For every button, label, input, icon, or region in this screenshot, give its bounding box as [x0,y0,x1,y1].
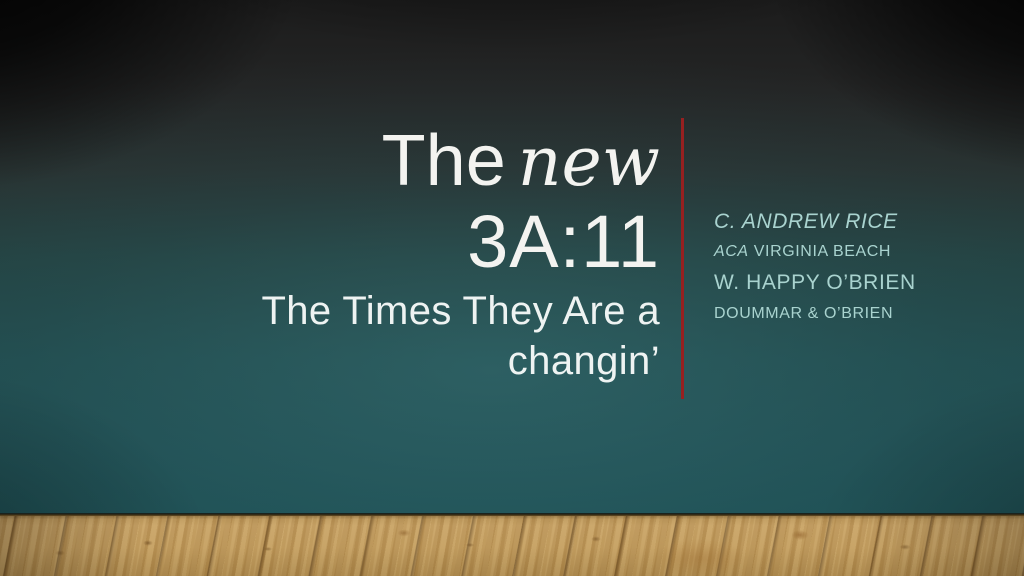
title-word-the: The [382,121,506,201]
red-vertical-divider [681,118,684,399]
title-word-new: new [506,123,660,202]
slide-subtitle: The Times They Are a changin’ [150,286,660,386]
title-line-2: 3A:11 [150,202,660,282]
floor-shading-overlay [0,513,1024,576]
wooden-floor [0,513,1024,576]
presenter-affiliation-1: ACA VIRGINIA BEACH [714,237,1004,267]
title-block: Thenew 3A:11 The Times They Are a changi… [150,122,660,386]
presenter-block: C. ANDREW RICE ACA VIRGINIA BEACH W. HAP… [714,206,1004,328]
presenter-name-2: W. HAPPY O’BRIEN [714,267,1004,299]
presenter-name-1: C. ANDREW RICE [714,206,1004,237]
title-line-1: Thenew [150,122,660,202]
floor-wall-edge [0,513,1024,516]
presenter-affiliation-2: DOUMMAR & O’BRIEN [714,299,1004,328]
presentation-slide: Thenew 3A:11 The Times They Are a changi… [0,0,1024,576]
presenter-affiliation-1-location: VIRGINIA BEACH [754,243,891,260]
presenter-affiliation-1-acronym: ACA [714,243,749,260]
